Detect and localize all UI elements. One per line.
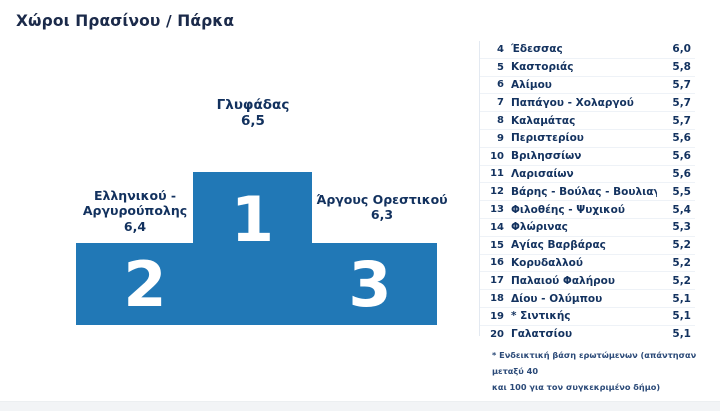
ranking-row-index: 19 — [480, 311, 511, 322]
ranking-row-value: 5,3 — [657, 221, 695, 233]
ranking-row-name: Περιστερίου — [511, 132, 657, 144]
podium-chart: 1 2 3 Γλυφάδας 6,5 Ελληνικού - Αργυρούπο… — [0, 0, 470, 400]
ranking-row-value: 5,5 — [657, 186, 695, 198]
ranking-row-value: 5,1 — [657, 293, 695, 305]
ranking-row-value: 5,6 — [657, 132, 695, 144]
podium-label-second: Ελληνικού - Αργυρούπολης 6,4 — [72, 188, 198, 234]
ranking-row: 16Κορυδαλλού5,2 — [480, 254, 695, 272]
ranking-row-value: 5,1 — [657, 328, 695, 340]
ranking-row-name: Γαλατσίου — [511, 328, 657, 340]
ranking-row-name: Παλαιού Φαλήρου — [511, 275, 657, 287]
ranking-row-index: 9 — [480, 133, 511, 144]
ranking-row-value: 5,7 — [657, 115, 695, 127]
ranking-row-index: 17 — [480, 275, 511, 286]
ranking-row-index: 20 — [480, 329, 511, 340]
ranking-row-value: 5,6 — [657, 150, 695, 162]
ranking-row: 18Δίου - Ολύμπου5,1 — [480, 289, 695, 307]
podium-third-score: 6,3 — [312, 207, 452, 222]
ranking-row: 20Γαλατσίου5,1 — [480, 325, 695, 343]
ranking-row-name: Λαρισαίων — [511, 168, 657, 180]
ranking-row: 6Αλίμου5,7 — [480, 76, 695, 94]
ranking-row-value: 5,6 — [657, 168, 695, 180]
ranking-row-value: 5,2 — [657, 257, 695, 269]
slide-canvas: Χώροι Πρασίνου / Πάρκα 1 2 3 Γλυφάδας 6,… — [0, 0, 720, 410]
ranking-row-value: 5,7 — [657, 97, 695, 109]
ranking-row-value: 5,1 — [657, 310, 695, 322]
ranking-row-value: 5,7 — [657, 79, 695, 91]
ranking-row-name: Φιλοθέης - Ψυχικού — [511, 204, 657, 216]
podium-third-name: Άργους Ορεστικού — [316, 192, 447, 207]
ranking-row: 5Καστοριάς5,8 — [480, 58, 695, 76]
ranking-row-name: Αλίμου — [511, 79, 657, 91]
ranking-row-name: Βάρης - Βούλας - Βουλιαγμένης — [511, 186, 657, 198]
ranking-row-index: 12 — [480, 186, 511, 197]
ranking-row-name: Βριλησσίων — [511, 150, 657, 162]
ranking-row-index: 7 — [480, 97, 511, 108]
ranking-row: 9Περιστερίου5,6 — [480, 129, 695, 147]
ranking-row-index: 13 — [480, 204, 511, 215]
ranking-row-value: 5,4 — [657, 204, 695, 216]
ranking-row-name: Καλαμάτας — [511, 115, 657, 127]
ranking-row-value: 5,2 — [657, 239, 695, 251]
ranking-row-name: Αγίας Βαρβάρας — [511, 239, 657, 251]
ranking-row: 4Έδεσσας6,0 — [480, 41, 695, 58]
ranking-row: 19* Σιντικής5,1 — [480, 307, 695, 325]
ranking-row-index: 14 — [480, 222, 511, 233]
ranking-row-name: * Σιντικής — [511, 310, 657, 322]
ranking-row: 8Καλαμάτας5,7 — [480, 111, 695, 129]
ranking-row: 15Αγίας Βαρβάρας5,2 — [480, 236, 695, 254]
podium-second-score: 6,4 — [72, 219, 198, 234]
ranking-row-value: 5,2 — [657, 275, 695, 287]
ranking-row-name: Έδεσσας — [511, 43, 657, 55]
podium-second-name-line2: Αργυρούπολης — [83, 203, 187, 218]
ranking-row-index: 5 — [480, 62, 511, 73]
ranking-row-name: Κορυδαλλού — [511, 257, 657, 269]
ranking-row-index: 8 — [480, 115, 511, 126]
ranking-row: 10Βριλησσίων5,6 — [480, 147, 695, 165]
footnote: * Ενδεικτική βάση ερωτώμενων (απάντησαν … — [492, 348, 702, 396]
ranking-row-index: 4 — [480, 44, 511, 55]
footnote-line-1: * Ενδεικτική βάση ερωτώμενων (απάντησαν … — [492, 350, 696, 376]
podium-rank-3-number: 3 — [315, 254, 425, 316]
ranking-row-index: 18 — [480, 293, 511, 304]
ranking-row-index: 16 — [480, 257, 511, 268]
ranking-row-value: 6,0 — [657, 43, 695, 55]
ranking-row-value: 5,8 — [657, 61, 695, 73]
ranking-row-name: Δίου - Ολύμπου — [511, 293, 657, 305]
ranking-list: 4Έδεσσας6,05Καστοριάς5,86Αλίμου5,77Παπάγ… — [479, 41, 695, 336]
ranking-row-name: Φλώρινας — [511, 221, 657, 233]
ranking-row-index: 15 — [480, 240, 511, 251]
podium-first-name: Γλυφάδας — [217, 97, 290, 113]
podium-rank-2-number: 2 — [90, 254, 200, 316]
ranking-row: 13Φιλοθέης - Ψυχικού5,4 — [480, 200, 695, 218]
ranking-row-name: Καστοριάς — [511, 61, 657, 73]
podium-label-third: Άργους Ορεστικού 6,3 — [312, 192, 452, 223]
footnote-line-2: και 100 για τον συγκεκριμένο δήμο) — [492, 382, 660, 392]
ranking-row: 7Παπάγου - Χολαργού5,7 — [480, 93, 695, 111]
ranking-row: 11Λαρισαίων5,6 — [480, 165, 695, 183]
ranking-row: 17Παλαιού Φαλήρου5,2 — [480, 271, 695, 289]
podium-first-score: 6,5 — [168, 113, 338, 129]
ranking-row: 14Φλώρινας5,3 — [480, 218, 695, 236]
ranking-row-name: Παπάγου - Χολαργού — [511, 97, 657, 109]
ranking-row-index: 6 — [480, 79, 511, 90]
podium-second-name-line1: Ελληνικού - — [94, 188, 176, 203]
podium-label-first: Γλυφάδας 6,5 — [168, 97, 338, 130]
ranking-row: 12Βάρης - Βούλας - Βουλιαγμένης5,5 — [480, 182, 695, 200]
ranking-row-index: 11 — [480, 168, 511, 179]
podium-rank-1-number: 1 — [193, 189, 312, 251]
ranking-row-index: 10 — [480, 151, 511, 162]
